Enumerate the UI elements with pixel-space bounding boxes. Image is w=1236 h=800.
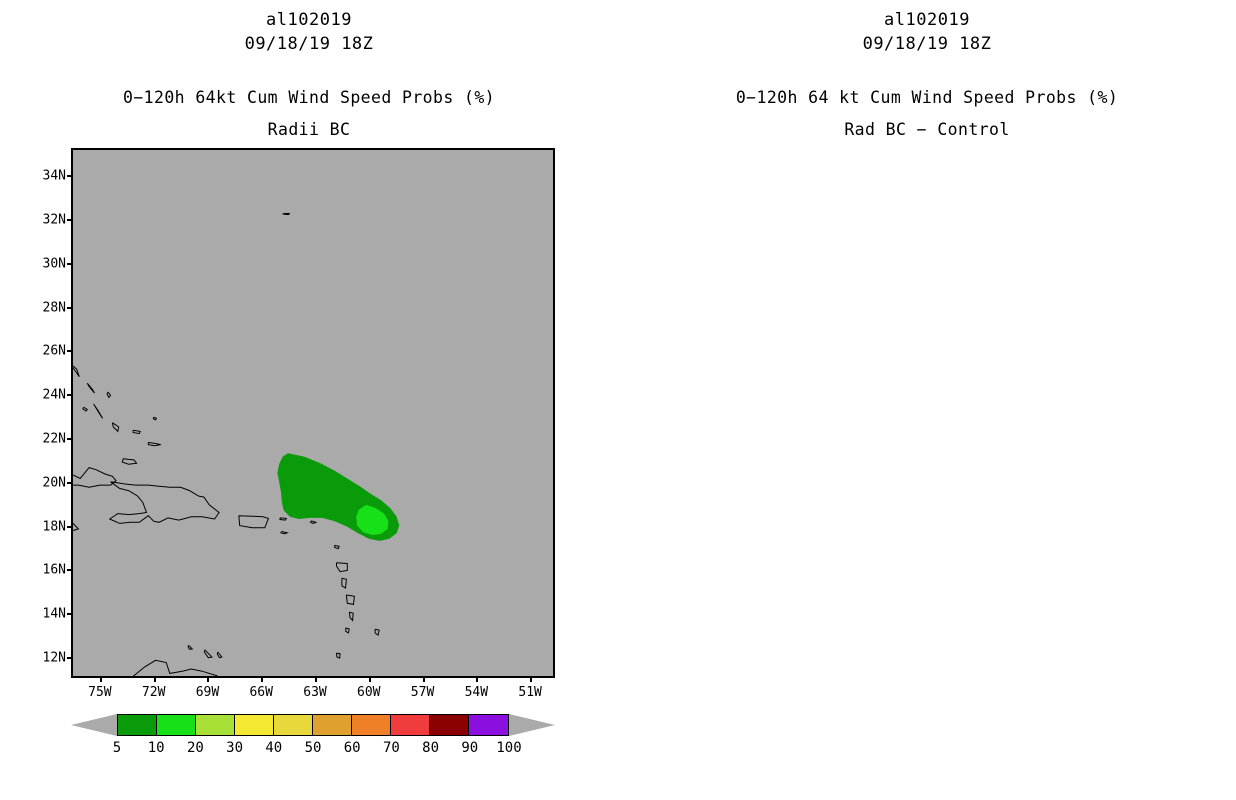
x-axis-label: 51W bbox=[518, 685, 541, 700]
coastline bbox=[311, 521, 316, 524]
y-axis-tick bbox=[67, 613, 73, 615]
colorbar-left-body bbox=[117, 714, 509, 736]
chart-title-right: 0−120h 64 kt Cum Wind Speed Probs (%) bbox=[618, 88, 1236, 107]
y-axis-label: 20N bbox=[43, 475, 66, 490]
coastline bbox=[204, 650, 212, 658]
y-axis-label: 32N bbox=[43, 213, 66, 228]
coastline bbox=[239, 516, 269, 528]
colorbar-left-swatch bbox=[118, 715, 157, 735]
x-axis-label: 63W bbox=[303, 685, 326, 700]
x-axis-label: 57W bbox=[411, 685, 434, 700]
colorbar-left-swatch bbox=[391, 715, 430, 735]
y-axis-tick bbox=[67, 526, 73, 528]
y-axis-label: 26N bbox=[43, 344, 66, 359]
y-axis-label: 16N bbox=[43, 563, 66, 578]
colorbar-left-tick-label: 5 bbox=[113, 740, 121, 756]
x-axis-tick bbox=[154, 676, 156, 682]
y-axis-tick bbox=[67, 438, 73, 440]
coastline bbox=[110, 482, 219, 524]
coastline bbox=[280, 518, 286, 520]
y-axis-tick bbox=[67, 394, 73, 396]
colorbar-left-tick-label: 10 bbox=[148, 740, 165, 756]
colorbar-left-tick-label: 90 bbox=[461, 740, 478, 756]
x-axis-label: 75W bbox=[88, 685, 111, 700]
coastline bbox=[83, 407, 87, 411]
figure-canvas: al102019 09/18/19 18Z 0−120h 64kt Cum Wi… bbox=[0, 0, 1236, 800]
coastline bbox=[122, 459, 136, 465]
coastline bbox=[217, 652, 222, 658]
coastline bbox=[73, 468, 116, 488]
map-plot-left: 34N32N30N28N26N24N22N20N18N16N14N12N75W7… bbox=[71, 148, 555, 678]
coastline bbox=[188, 645, 192, 649]
x-axis-tick bbox=[530, 676, 532, 682]
colorbar-left-swatch bbox=[274, 715, 313, 735]
x-axis-tick bbox=[261, 676, 263, 682]
y-axis-label: 22N bbox=[43, 432, 66, 447]
colorbar-left-tick-label: 70 bbox=[383, 740, 400, 756]
y-axis-label: 24N bbox=[43, 388, 66, 403]
colorbar-left-tick-label: 20 bbox=[187, 740, 204, 756]
x-axis-tick bbox=[315, 676, 317, 682]
colorbar-left-tick-label: 80 bbox=[422, 740, 439, 756]
y-axis-label: 18N bbox=[43, 519, 66, 534]
colorbar-left-tick-label: 30 bbox=[226, 740, 243, 756]
coastline bbox=[73, 516, 78, 534]
coastline bbox=[129, 660, 409, 676]
colorbar-left-under-arrow bbox=[71, 714, 117, 736]
y-axis-tick bbox=[67, 350, 73, 352]
coastline bbox=[107, 392, 111, 398]
colorbar-left-over-arrow bbox=[509, 714, 555, 736]
y-axis-label: 28N bbox=[43, 300, 66, 315]
coastline bbox=[375, 629, 379, 635]
coastline bbox=[133, 430, 140, 433]
colorbar-left-swatch bbox=[235, 715, 274, 735]
colorbar-left-swatch bbox=[430, 715, 469, 735]
chart-subtitle-left: Radii BC bbox=[0, 120, 618, 139]
coastline-layer bbox=[73, 214, 408, 677]
storm-id-right: al102019 bbox=[618, 10, 1236, 30]
y-axis-tick bbox=[67, 569, 73, 571]
coastline bbox=[337, 653, 341, 658]
x-axis-label: 72W bbox=[142, 685, 165, 700]
panel-left: al102019 09/18/19 18Z 0−120h 64kt Cum Wi… bbox=[0, 0, 618, 800]
chart-subtitle-right: Rad BC − Control bbox=[618, 120, 1236, 139]
y-axis-tick bbox=[67, 219, 73, 221]
colorbar-left-swatch bbox=[313, 715, 352, 735]
colorbar-left: 5102030405060708090100 bbox=[71, 714, 555, 736]
coastline bbox=[335, 545, 340, 548]
y-axis-tick bbox=[67, 482, 73, 484]
coastline bbox=[112, 423, 118, 432]
coastline bbox=[346, 628, 349, 633]
colorbar-left-swatch bbox=[469, 715, 508, 735]
coastline bbox=[73, 362, 79, 376]
panel-right: al102019 09/18/19 18Z 0−120h 64 kt Cum W… bbox=[618, 0, 1236, 800]
x-axis-label: 54W bbox=[465, 685, 488, 700]
coastline bbox=[153, 417, 156, 420]
x-axis-tick bbox=[423, 676, 425, 682]
y-axis-tick bbox=[67, 307, 73, 309]
colorbar-left-swatch bbox=[352, 715, 391, 735]
coastline bbox=[148, 442, 161, 445]
coastline bbox=[281, 532, 287, 534]
colorbar-left-tick-label: 40 bbox=[265, 740, 282, 756]
x-axis-tick bbox=[369, 676, 371, 682]
coastline bbox=[94, 404, 103, 418]
colorbar-left-swatch bbox=[196, 715, 235, 735]
x-axis-label: 60W bbox=[357, 685, 380, 700]
coastline bbox=[346, 595, 354, 604]
y-axis-label: 34N bbox=[43, 169, 66, 184]
coastline bbox=[337, 563, 348, 572]
y-axis-label: 14N bbox=[43, 607, 66, 622]
colorbar-left-tick-label: 60 bbox=[344, 740, 361, 756]
x-axis-tick bbox=[476, 676, 478, 682]
x-axis-label: 66W bbox=[249, 685, 272, 700]
coastline bbox=[342, 578, 347, 588]
storm-id-left: al102019 bbox=[0, 10, 618, 30]
coastline bbox=[349, 612, 353, 620]
chart-title-left: 0−120h 64kt Cum Wind Speed Probs (%) bbox=[0, 88, 618, 107]
x-axis-label: 69W bbox=[196, 685, 219, 700]
y-axis-label: 30N bbox=[43, 256, 66, 271]
y-axis-tick bbox=[67, 175, 73, 177]
coastline bbox=[87, 383, 94, 393]
y-axis-tick bbox=[67, 657, 73, 659]
forecast-datetime-right: 09/18/19 18Z bbox=[618, 34, 1236, 54]
colorbar-left-swatch bbox=[157, 715, 196, 735]
coastline bbox=[283, 214, 290, 215]
colorbar-left-tick-label: 100 bbox=[496, 740, 521, 756]
x-axis-tick bbox=[207, 676, 209, 682]
colorbar-left-tick-label: 50 bbox=[305, 740, 322, 756]
x-axis-tick bbox=[100, 676, 102, 682]
y-axis-tick bbox=[67, 263, 73, 265]
y-axis-label: 12N bbox=[43, 651, 66, 666]
forecast-datetime-left: 09/18/19 18Z bbox=[0, 34, 618, 54]
